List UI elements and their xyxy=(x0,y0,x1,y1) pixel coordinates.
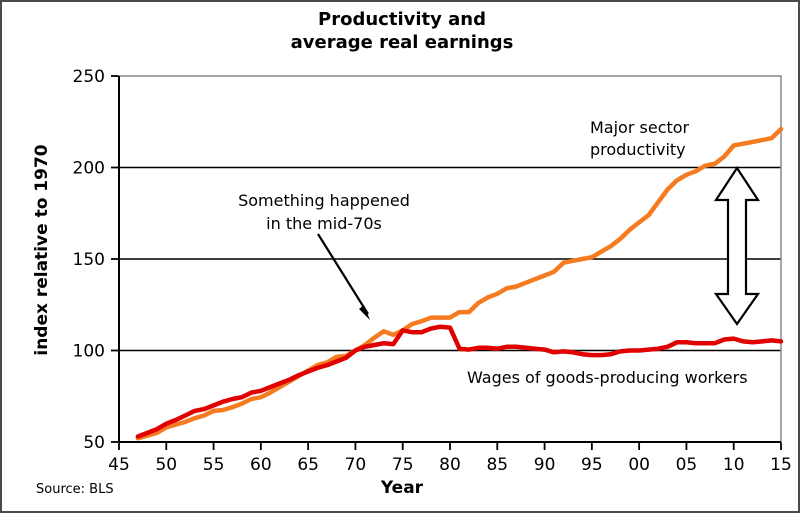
x-tick-label: 85 xyxy=(486,455,508,475)
x-tick-label: 55 xyxy=(203,455,225,475)
x-axis-ticks: 455055606570758085909500051015 xyxy=(108,442,792,475)
x-tick-label: 45 xyxy=(108,455,130,475)
mid-70s-callout-line-1: Something happened xyxy=(238,191,410,210)
gridlines xyxy=(119,168,781,351)
y-tick-label: 100 xyxy=(73,342,105,362)
productivity-series-label-line-2: productivity xyxy=(590,140,686,159)
y-tick-label: 50 xyxy=(83,433,105,453)
wages-series-label: Wages of goods-producing workers xyxy=(467,368,748,387)
x-tick-label: 75 xyxy=(392,455,414,475)
series-line-productivity xyxy=(138,129,781,438)
x-tick-label: 60 xyxy=(250,455,272,475)
productivity-series-label-line-1: Major sector xyxy=(590,118,690,137)
series-lines xyxy=(138,129,781,438)
x-tick-label: 15 xyxy=(770,455,792,475)
x-tick-label: 80 xyxy=(439,455,461,475)
mid-70s-arrow-icon xyxy=(318,234,370,320)
chart-page: Productivity andaverage real earnings in… xyxy=(0,0,800,513)
x-tick-label: 50 xyxy=(155,455,177,475)
y-tick-label: 150 xyxy=(73,250,105,270)
x-tick-label: 10 xyxy=(723,455,745,475)
x-tick-label: 05 xyxy=(676,455,698,475)
y-tick-label: 250 xyxy=(73,67,105,87)
x-tick-label: 00 xyxy=(628,455,650,475)
x-tick-label: 90 xyxy=(534,455,556,475)
x-tick-label: 70 xyxy=(345,455,367,475)
y-tick-label: 200 xyxy=(73,159,105,179)
plot-area: 50100150200250 4550556065707580859095000… xyxy=(2,2,800,513)
x-tick-label: 95 xyxy=(581,455,603,475)
x-tick-label: 65 xyxy=(297,455,319,475)
y-axis-ticks: 50100150200250 xyxy=(73,67,119,453)
mid-70s-callout-line-2: in the mid-70s xyxy=(266,214,382,233)
gap-double-arrow-icon xyxy=(716,168,758,324)
